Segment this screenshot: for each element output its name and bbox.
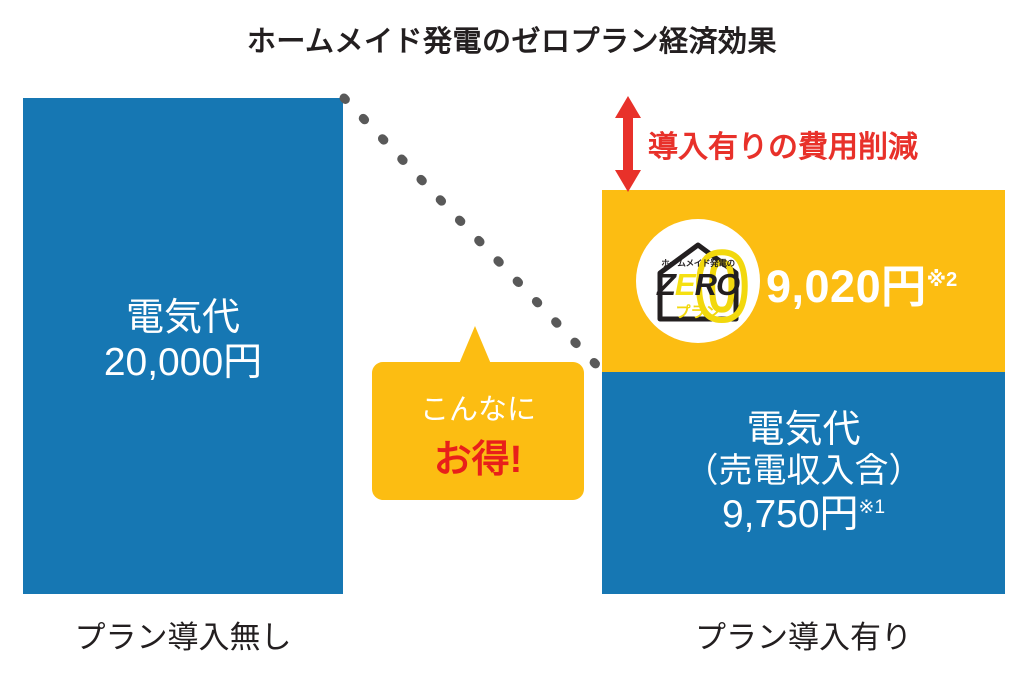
callout-tail bbox=[459, 326, 491, 364]
bar-with-plan-electric-amount-line: 9,750円※1 bbox=[602, 492, 1005, 537]
category-label-no-plan: プラン導入無し bbox=[23, 612, 343, 657]
savings-amount: 9,020円 bbox=[766, 261, 927, 312]
savings-callout: こんなに お得! bbox=[372, 362, 584, 500]
bar-with-plan-electric-name: 電気代 bbox=[602, 408, 1005, 452]
bar-no-plan-electric-name: 電気代 bbox=[23, 296, 343, 340]
bar-with-plan-electric-sub: （売電収入含） bbox=[602, 452, 1005, 491]
cost-reduction-label: 導入有りの費用削減 bbox=[648, 122, 918, 166]
logo-zero-highlight: E bbox=[675, 267, 695, 302]
logo-plan-word: プラン bbox=[636, 301, 760, 322]
zero-plan-logo: 0 ホームメイド発電の ZERO プラン bbox=[636, 219, 760, 343]
bar-with-plan-electric-amount: 9,750円 bbox=[722, 493, 859, 536]
callout-line-2: お得! bbox=[372, 428, 584, 483]
bar-no-plan-electric-amount: 20,000円 bbox=[23, 340, 343, 385]
bar-with-plan-footnote-marker: ※1 bbox=[859, 497, 886, 518]
cost-reduction-arrow-icon bbox=[612, 96, 644, 192]
logo-zero-back: RO bbox=[695, 267, 740, 302]
bar-with-plan-label: 電気代 （売電収入含） 9,750円※1 bbox=[602, 408, 1005, 537]
logo-zero-word: ZERO bbox=[636, 267, 760, 303]
category-label-with-plan: プラン導入有り bbox=[602, 612, 1005, 657]
savings-footnote-marker: ※2 bbox=[927, 269, 958, 291]
logo-zero-front: Z bbox=[657, 267, 675, 302]
callout-line-1: こんなに bbox=[372, 386, 584, 428]
chart-plot-area: 電気代 20,000円 0 ホームメイド発電の ZERO プラン 9,020円※… bbox=[0, 0, 1024, 679]
bar-no-plan-label: 電気代 20,000円 bbox=[23, 296, 343, 385]
savings-value: 9,020円※2 bbox=[766, 250, 957, 315]
